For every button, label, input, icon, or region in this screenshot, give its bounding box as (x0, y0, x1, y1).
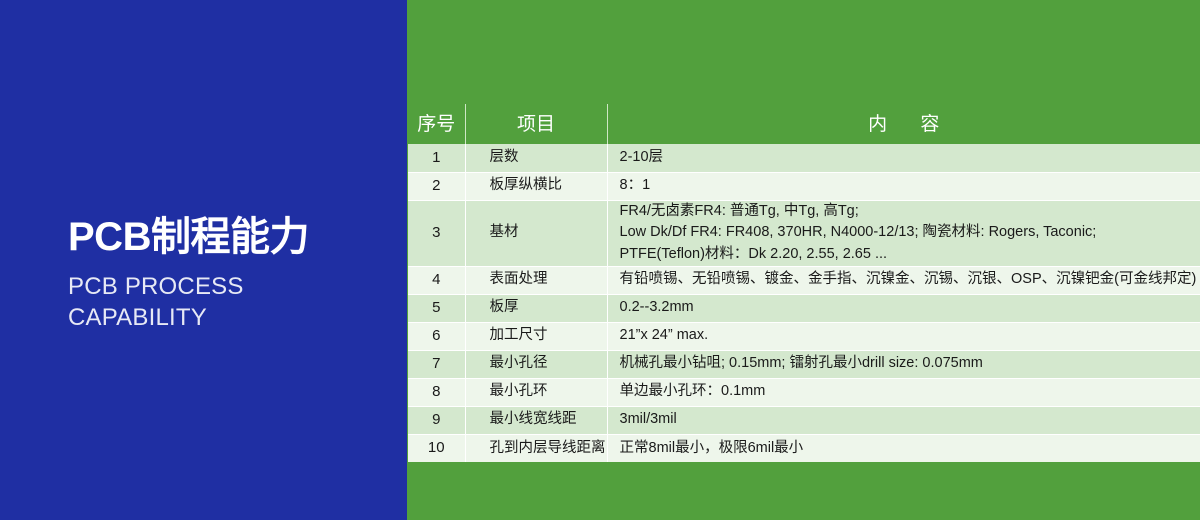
table-row: 10 孔到内层导线距离 正常8mil最小，极限6mil最小 (408, 434, 1200, 462)
cell-item: 板厚 (465, 294, 607, 322)
cell-item: 层数 (465, 144, 607, 172)
cell-no: 8 (408, 378, 465, 406)
content-panel: 序号 项目 内 容 1 层数 2-10层 2 板厚纵横比 8：1 3 基材 FR… (407, 0, 1200, 520)
cell-content: FR4/无卤素FR4: 普通Tg, 中Tg, 高Tg; Low Dk/Df FR… (607, 200, 1200, 266)
cell-item: 最小孔径 (465, 350, 607, 378)
cell-content: 3mil/3mil (607, 406, 1200, 434)
cell-no: 9 (408, 406, 465, 434)
cell-item: 孔到内层导线距离 (465, 434, 607, 462)
cell-no: 10 (408, 434, 465, 462)
table-row: 2 板厚纵横比 8：1 (408, 172, 1200, 200)
cell-item: 板厚纵横比 (465, 172, 607, 200)
pcb-capability-table: 序号 项目 内 容 1 层数 2-10层 2 板厚纵横比 8：1 3 基材 FR… (408, 104, 1200, 462)
table-row: 7 最小孔径 机械孔最小钻咀; 0.15mm; 镭射孔最小drill size:… (408, 350, 1200, 378)
table-row: 3 基材 FR4/无卤素FR4: 普通Tg, 中Tg, 高Tg; Low Dk/… (408, 200, 1200, 266)
cell-no: 6 (408, 322, 465, 350)
cell-item: 表面处理 (465, 266, 607, 294)
table-row: 4 表面处理 有铅喷锡、无铅喷锡、镀金、金手指、沉镍金、沉锡、沉银、OSP、沉镍… (408, 266, 1200, 294)
table-row: 1 层数 2-10层 (408, 144, 1200, 172)
column-header-item: 项目 (465, 104, 607, 144)
cell-no: 5 (408, 294, 465, 322)
page-subtitle: PCB PROCESS CAPABILITY (68, 272, 398, 333)
cell-no: 2 (408, 172, 465, 200)
cell-item: 基材 (465, 200, 607, 266)
cell-content: 8：1 (607, 172, 1200, 200)
cell-item: 最小线宽线距 (465, 406, 607, 434)
cell-content: 21”x 24” max. (607, 322, 1200, 350)
cell-content: 单边最小孔环：0.1mm (607, 378, 1200, 406)
title-block: PCB制程能力 PCB PROCESS CAPABILITY (68, 216, 398, 333)
table-header-row: 序号 项目 内 容 (408, 104, 1200, 144)
table-row: 5 板厚 0.2--3.2mm (408, 294, 1200, 322)
cell-content: 正常8mil最小，极限6mil最小 (607, 434, 1200, 462)
column-header-content: 内 容 (607, 104, 1200, 144)
column-header-no: 序号 (408, 104, 465, 144)
cell-content: 0.2--3.2mm (607, 294, 1200, 322)
table-row: 6 加工尺寸 21”x 24” max. (408, 322, 1200, 350)
cell-no: 3 (408, 200, 465, 266)
cell-item: 最小孔环 (465, 378, 607, 406)
table-row: 8 最小孔环 单边最小孔环：0.1mm (408, 378, 1200, 406)
table-body: 1 层数 2-10层 2 板厚纵横比 8：1 3 基材 FR4/无卤素FR4: … (408, 144, 1200, 462)
cell-content: 有铅喷锡、无铅喷锡、镀金、金手指、沉镍金、沉锡、沉银、OSP、沉镍钯金(可金线邦… (607, 266, 1200, 294)
table-header: 序号 项目 内 容 (408, 104, 1200, 144)
cell-no: 1 (408, 144, 465, 172)
table-row: 9 最小线宽线距 3mil/3mil (408, 406, 1200, 434)
cell-no: 4 (408, 266, 465, 294)
cell-content: 2-10层 (607, 144, 1200, 172)
cell-content: 机械孔最小钻咀; 0.15mm; 镭射孔最小drill size: 0.075m… (607, 350, 1200, 378)
left-title-panel: PCB制程能力 PCB PROCESS CAPABILITY (0, 0, 407, 520)
cell-no: 7 (408, 350, 465, 378)
cell-item: 加工尺寸 (465, 322, 607, 350)
page-title: PCB制程能力 (68, 216, 398, 258)
